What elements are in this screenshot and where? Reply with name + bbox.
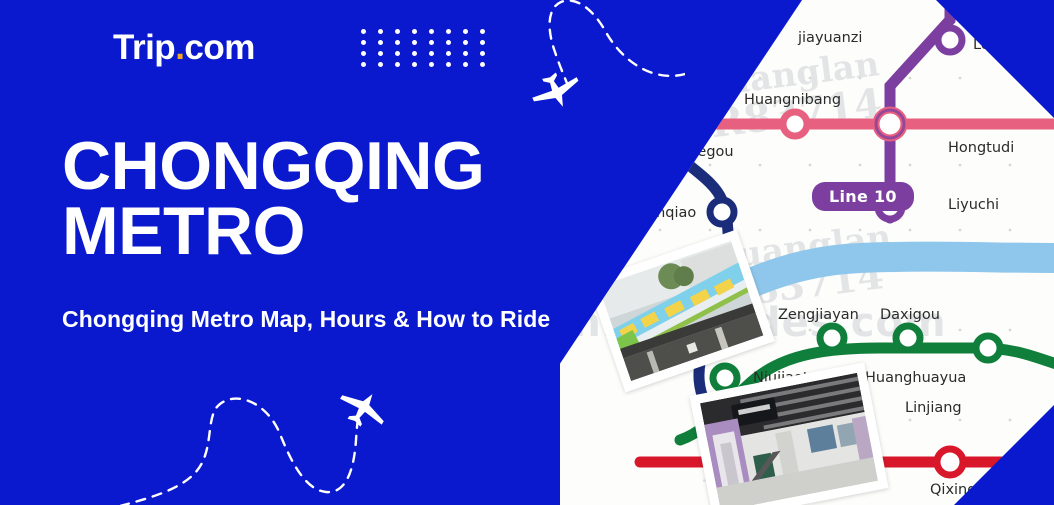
grid-dot [361, 29, 366, 34]
grid-dot [412, 51, 417, 56]
line-10-badge[interactable]: Line 10 [812, 182, 914, 211]
page-subtitle: Chongqing Metro Map, Hours & How to Ride [62, 306, 550, 333]
station-label: Linjiang [905, 400, 962, 416]
station-label: Huanghuayua [865, 370, 966, 386]
grid-dot [480, 51, 485, 56]
grid-dot [412, 62, 417, 67]
station-label: Daxigou [880, 307, 940, 323]
grid-dot [395, 29, 400, 34]
grid-dot [378, 40, 383, 45]
grid-dot [480, 29, 485, 34]
grid-dot [361, 51, 366, 56]
chongqing-metro-banner: Trip.com CHONGQING METRO Chongqing Metro… [0, 0, 1054, 505]
grid-dot [429, 51, 434, 56]
station-label: Guanyinqiao [605, 205, 696, 221]
metro-map-panel: huanglan R83714 huanglan R83714 huanglan… [560, 0, 1054, 505]
grid-dot [378, 29, 383, 34]
grid-dot [480, 40, 485, 45]
grid-dot [429, 29, 434, 34]
page-title: CHONGQING METRO [62, 134, 484, 265]
grid-dot [429, 40, 434, 45]
grid-dot [395, 62, 400, 67]
grid-dot [463, 51, 468, 56]
grid-dot [446, 40, 451, 45]
logo-text: Trip [113, 28, 175, 67]
grid-dot [446, 51, 451, 56]
grid-dot [378, 51, 383, 56]
airplane-trail-top [495, 0, 685, 139]
logo-suffix: com [184, 28, 254, 67]
grid-dot [446, 62, 451, 67]
grid-dot [480, 62, 485, 67]
grid-dot [361, 62, 366, 67]
grid-dot [412, 40, 417, 45]
grid-dot [395, 40, 400, 45]
station-label: Huangnibang [744, 92, 841, 108]
grid-dot [463, 62, 468, 67]
grid-dot [463, 40, 468, 45]
trip-com-logo[interactable]: Trip.com [113, 30, 255, 65]
grid-dot [412, 29, 417, 34]
station-label: Liyuchi [948, 197, 999, 213]
airplane-trail-bottom [120, 378, 440, 505]
grid-dot [463, 29, 468, 34]
grid-dot [429, 62, 434, 67]
grid-dot [378, 62, 383, 67]
station-interior-photo-image [700, 373, 878, 505]
airplane-icon [527, 65, 586, 117]
metro-map-canvas: huanglan R83714 huanglan R83714 huanglan… [560, 0, 1054, 505]
station-label: Zengjiayan [778, 307, 859, 323]
grid-dot [395, 51, 400, 56]
station-label: jiayuanzi [798, 30, 862, 46]
station-label: Hongtudi [948, 140, 1014, 156]
station-label: qihegou [675, 144, 734, 160]
grid-dot [361, 40, 366, 45]
dot-grid-decoration [361, 29, 497, 73]
grid-dot [446, 29, 451, 34]
airplane-icon [333, 381, 393, 436]
